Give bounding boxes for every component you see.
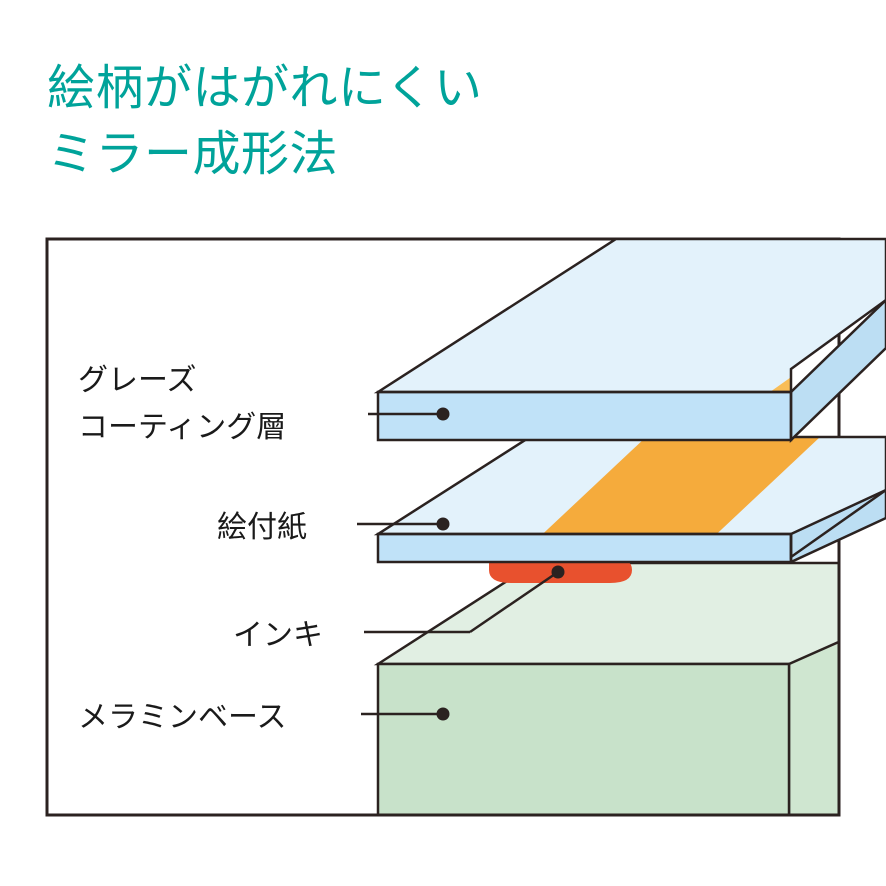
layer-diagram-svg: グレーズ コーティング層 絵付紙 インキ メラミンベース [0, 0, 886, 886]
label-glaze-coating-line2: コーティング層 [78, 411, 286, 444]
page-root: 絵柄がはがれにくい ミラー成形法 [0, 0, 886, 886]
leader-dot-paper [437, 518, 450, 531]
label-melamine-base: メラミンベース [78, 701, 287, 734]
leader-dot-base [437, 708, 450, 721]
leader-dot-ink [552, 566, 565, 579]
label-decorated-paper: 絵付紙 [217, 511, 307, 544]
base-front-face [378, 664, 789, 815]
leader-dot-glaze [437, 408, 450, 421]
label-glaze-coating-line1: グレーズ [78, 364, 197, 397]
layer-diagram: グレーズ コーティング層 絵付紙 インキ メラミンベース [0, 0, 886, 886]
paper-front-face [378, 534, 791, 562]
label-ink: インキ [233, 619, 323, 652]
